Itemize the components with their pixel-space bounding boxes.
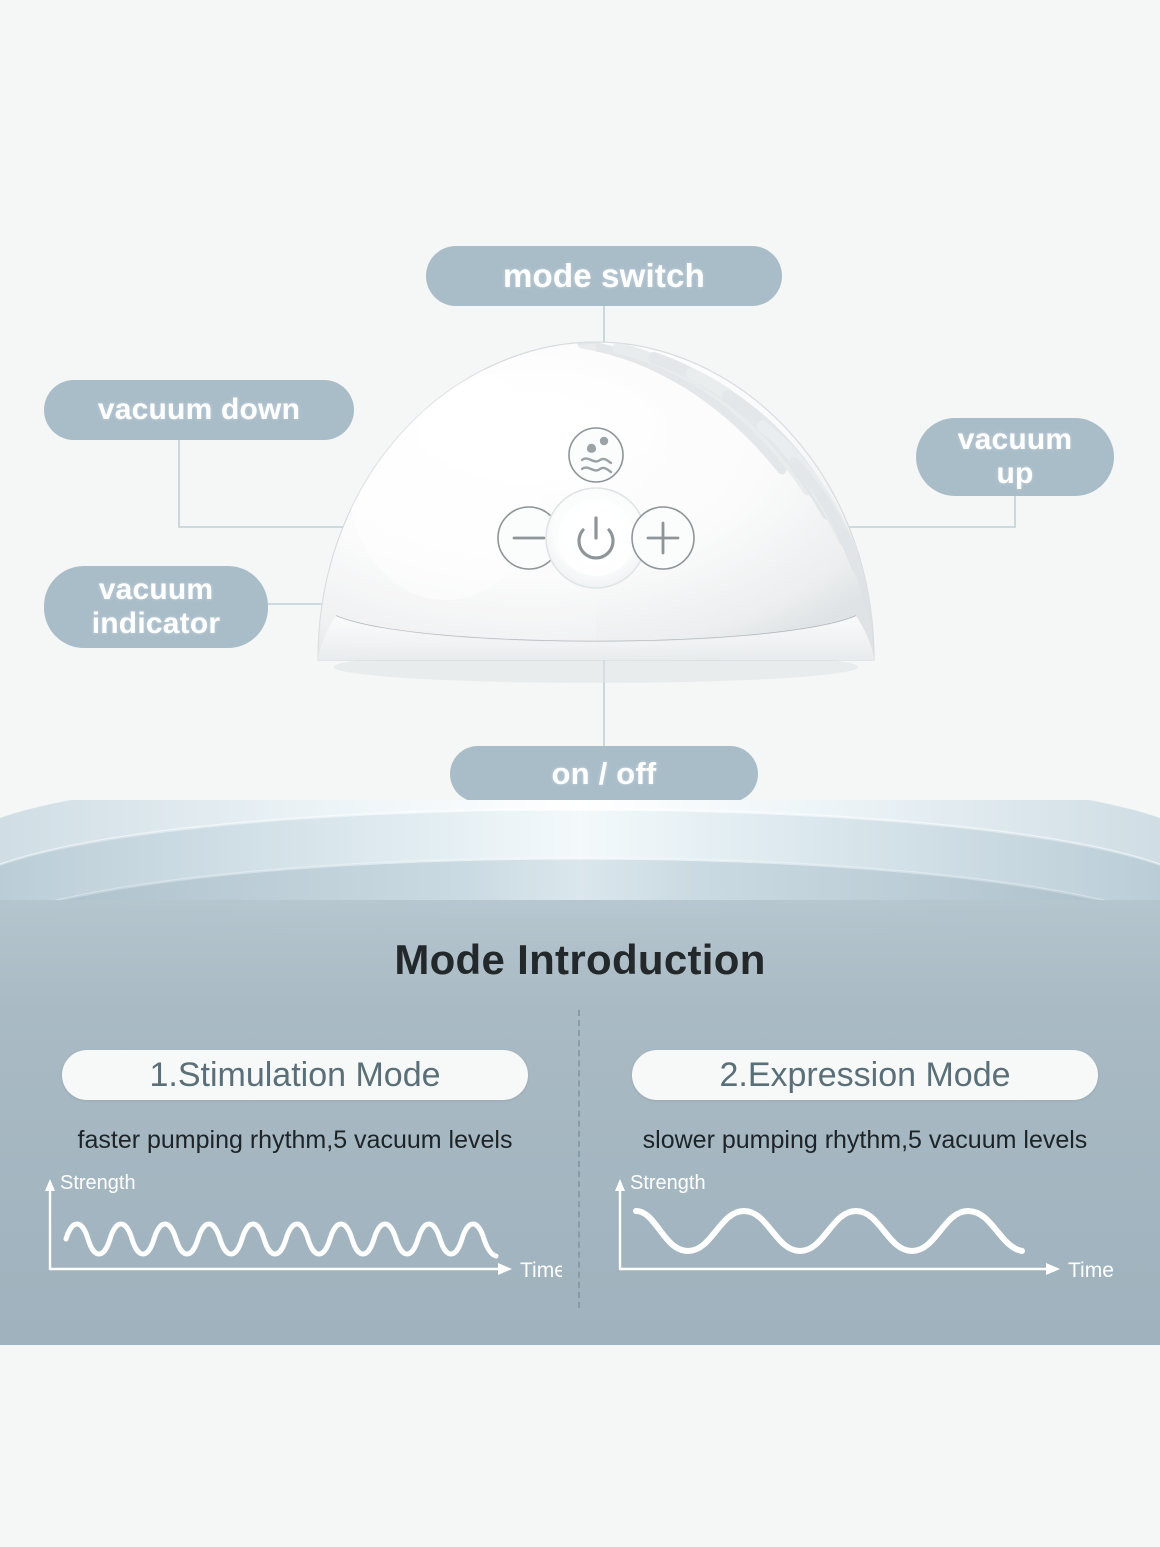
mode-introduction-title: Mode Introduction [0,936,1160,984]
plus-icon[interactable] [632,507,694,569]
bottom-blank-strip [0,1345,1160,1547]
chart-expression-waveform: Strength Time [598,1169,1132,1289]
callout-mode-switch-label: mode switch [503,257,705,295]
mode-description-expression: slower pumping rhythm,5 vacuum levels [598,1126,1132,1155]
callout-vacuum-indicator: vacuum indicator [44,566,268,648]
mode-chip-stimulation: 1.Stimulation Mode [62,1050,528,1100]
callout-vacuum-up-label-line2: up [958,457,1073,492]
mode-column-divider [578,1010,580,1308]
chart-stimulation-waveform: Strength Time [28,1169,562,1289]
callout-vacuum-down: vacuum down [44,380,354,440]
x-axis-arrow [498,1263,512,1275]
y-axis-arrow [615,1179,625,1191]
callout-on-off-label: on / off [552,756,657,792]
mode-chip-stimulation-label: 1.Stimulation Mode [149,1056,440,1095]
x-axis-label: Time [520,1259,562,1282]
breast-pump-device-image [296,330,896,690]
x-axis-label: Time [1068,1259,1114,1282]
mode-description-stimulation: faster pumping rhythm,5 vacuum levels [28,1126,562,1155]
y-axis-label: Strength [630,1172,706,1194]
device-diagram-section: mode switch vacuum down vacuum up vacuum… [0,0,1160,900]
callout-on-off: on / off [450,746,758,802]
mode-chip-expression: 2.Expression Mode [632,1050,1098,1100]
callout-vacuum-up: vacuum up [916,418,1114,496]
waveform-path-stimulation [66,1224,496,1256]
product-infographic: mode switch vacuum down vacuum up vacuum… [0,0,1160,1547]
x-axis-arrow [1046,1263,1060,1275]
callout-vacuum-indicator-label-line1: vacuum [92,573,220,608]
mode-column-expression: 2.Expression Mode slower pumping rhythm,… [598,1050,1132,1294]
y-axis-label: Strength [60,1172,136,1194]
mode-column-stimulation: 1.Stimulation Mode faster pumping rhythm… [28,1050,562,1294]
power-icon[interactable] [546,488,646,588]
mode-introduction-section: Mode Introduction 1.Stimulation Mode fas… [0,900,1160,1345]
callout-mode-switch: mode switch [426,246,782,306]
y-axis-arrow [45,1179,55,1191]
callout-vacuum-up-label-line1: vacuum [958,423,1073,458]
callout-vacuum-down-label: vacuum down [98,393,300,428]
callout-vacuum-indicator-label-line2: indicator [92,607,220,642]
mode-switch-icon[interactable] [569,428,623,482]
waveform-path-expression [636,1211,1022,1251]
mode-chip-expression-label: 2.Expression Mode [719,1056,1010,1095]
